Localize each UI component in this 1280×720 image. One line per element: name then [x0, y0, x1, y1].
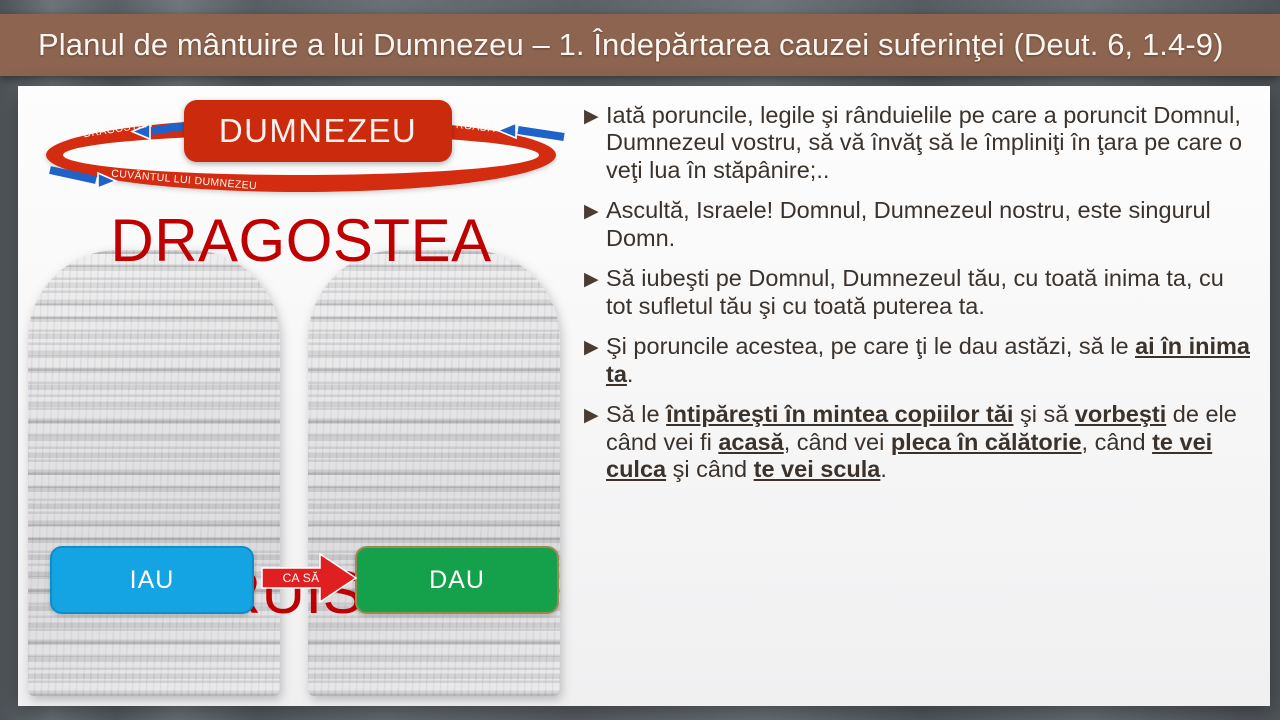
- bullet-marker-icon: ▶: [584, 338, 606, 357]
- bullet-item: ▶Să iubeşti pe Domnul, Dumnezeul tău, cu…: [584, 265, 1256, 320]
- cycle-diagram: DRAGOSTEA ROADĂ CUVÂNTUL LUI DUMNEZEU DU…: [28, 96, 574, 206]
- bullet-marker-icon: ▶: [584, 406, 606, 425]
- take-box-label: IAU: [130, 566, 175, 595]
- heading-love: DRAGOSTEA: [18, 206, 584, 275]
- give-box[interactable]: DAU: [355, 546, 559, 614]
- slide-canvas: Planul de mântuire a lui Dumnezeu – 1. Î…: [0, 0, 1280, 720]
- arrow-bottom-blue-icon: [48, 166, 120, 192]
- bullet-text: Să iubeşti pe Domnul, Dumnezeul tău, cu …: [606, 265, 1256, 320]
- bullet-text: Să le întipăreşti în mintea copiilor tăi…: [606, 401, 1256, 483]
- salvation-diagram: DRAGOSTEA ROADĂ CUVÂNTUL LUI DUMNEZEU DU…: [18, 86, 584, 706]
- so-that-label: CA SĂ: [260, 546, 342, 610]
- bullet-marker-icon: ▶: [584, 202, 606, 221]
- bullet-item: ▶Şi poruncile acestea, pe care ţi le dau…: [584, 333, 1256, 388]
- bullet-marker-icon: ▶: [584, 107, 606, 126]
- god-box-label: DUMNEZEU: [219, 112, 417, 150]
- bullet-item: ▶Ascultă, Israele! Domnul, Dumnezeul nos…: [584, 197, 1256, 252]
- scripture-bullet-list: ▶Iată poruncile, legile şi rânduielile p…: [584, 94, 1256, 714]
- content-panel: DRAGOSTEA ROADĂ CUVÂNTUL LUI DUMNEZEU DU…: [18, 86, 1270, 706]
- take-box[interactable]: IAU: [50, 546, 254, 614]
- bullet-text: Şi poruncile acestea, pe care ţi le dau …: [606, 333, 1256, 388]
- bullet-item: ▶Iată poruncile, legile şi rânduielile p…: [584, 102, 1256, 184]
- arrow-right-blue-icon: [494, 118, 566, 144]
- bullet-text: Ascultă, Israele! Domnul, Dumnezeul nost…: [606, 197, 1256, 252]
- title-bar: Planul de mântuire a lui Dumnezeu – 1. Î…: [0, 14, 1280, 76]
- bullet-marker-icon: ▶: [584, 270, 606, 289]
- give-box-label: DAU: [429, 566, 485, 595]
- tablet-right: [308, 250, 560, 696]
- stone-tablets: DRAGOSTEA ALTRUISMUL IAU CA SĂ DAU: [18, 206, 584, 706]
- page-title: Planul de mântuire a lui Dumnezeu – 1. Î…: [38, 27, 1224, 63]
- tablet-left: [28, 250, 280, 696]
- god-box: DUMNEZEU: [184, 100, 452, 162]
- bullet-item: ▶Să le întipăreşti în mintea copiilor tă…: [584, 401, 1256, 483]
- bullet-text: Iată poruncile, legile şi rânduielile pe…: [606, 102, 1256, 184]
